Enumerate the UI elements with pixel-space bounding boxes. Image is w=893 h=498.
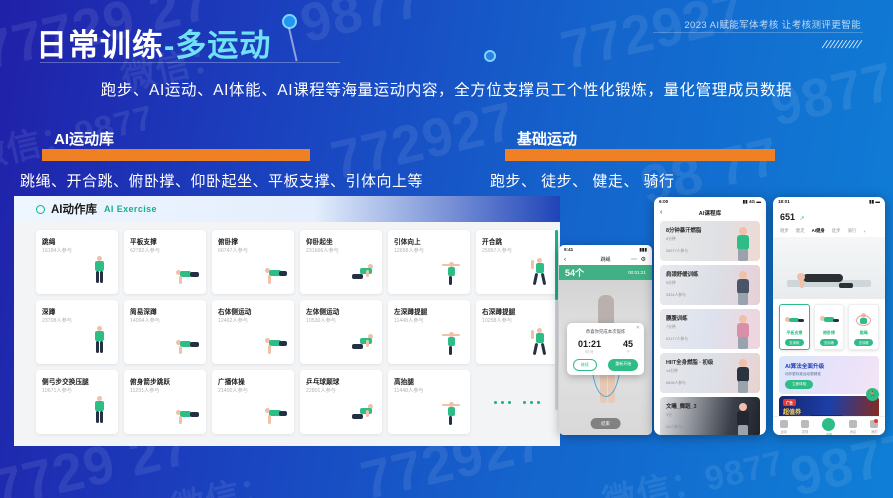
exercise-participant-count: 12462人参与 <box>218 317 248 324</box>
move-card[interactable]: 俯卧撑去训练 <box>814 304 845 350</box>
course-duration: 3分 <box>666 413 697 418</box>
exercise-figure-icon <box>262 256 288 290</box>
stat-label: 个 <box>623 350 633 355</box>
activity-tabs: 跑步健走AI健身徒步骑行+ <box>773 228 885 237</box>
exercise-card-grid: 跳绳16184人参与平板支撑62782人参与俯卧撑60747人参与仰卧起坐231… <box>14 222 560 446</box>
exercise-figure-icon <box>350 396 376 430</box>
section-label: AI运动库 <box>54 128 114 149</box>
status-time: 6:00 <box>659 199 668 204</box>
hatch-decoration-icon: ////////// <box>820 37 863 52</box>
phone-mockup-courses: 6:00 ▮▮ 4G ▬ ‹ AI课程库 8分钟暴汗燃脂8分钟26977人参与肩… <box>654 197 766 435</box>
corner-divider <box>653 32 863 33</box>
activity-tab-健走[interactable]: 健走 <box>796 228 805 234</box>
exercise-card[interactable]: 仰卧起坐231666人参与 <box>300 230 382 294</box>
page-title-accent: 多运动 <box>175 28 271 63</box>
move-card-row: 平板支撑去训练俯卧撑去训练跳绳去训练 <box>773 299 885 354</box>
status-signal-icon: ▮▮ 4G ▬ <box>743 199 761 205</box>
exercise-name: 俯卧撑 <box>218 236 238 246</box>
modal-buttons: 继续 重新开始 <box>567 359 644 371</box>
exercise-name: 平板支撑 <box>130 236 157 246</box>
exercise-card[interactable]: 俯身箭步跳跃11291人参与 <box>124 370 206 434</box>
course-thumbnail-figure <box>732 315 754 349</box>
exercise-card[interactable]: 侧弓步交换压腿10671人参与 <box>36 370 118 434</box>
stat-value: 45 <box>623 339 633 349</box>
exercise-figure-icon <box>174 256 200 290</box>
exercise-name: 左体侧运动 <box>306 306 339 316</box>
watermark: 微信：9877 <box>597 435 788 498</box>
exercise-card[interactable]: 高抬腿11448人参与 <box>388 370 470 434</box>
nav-title: AI课程库 <box>699 209 721 217</box>
exercise-name: 深蹲 <box>42 306 55 316</box>
more-dots-icon[interactable]: ⋯ ⚙ <box>631 256 647 263</box>
activity-tab-跑步[interactable]: 跑步 <box>780 228 789 234</box>
exercise-participant-count: 16184人参与 <box>42 247 72 254</box>
section-underline-bar <box>505 149 775 161</box>
exercise-figure-icon <box>350 326 376 360</box>
page-title-main: 日常训练 <box>36 28 164 63</box>
course-card[interactable]: 8分钟暴汗燃脂8分钟26977人参与 <box>660 221 760 261</box>
tabbar-label: 训练 <box>822 432 835 436</box>
exercise-figure-icon <box>526 256 552 290</box>
course-participants: 53177人参与 <box>666 337 688 342</box>
move-name: 跳绳 <box>849 330 878 336</box>
exercise-participant-count: 21400人参与 <box>218 387 248 394</box>
banner-title: AI算法全面升级 <box>779 356 879 370</box>
exercise-figure-icon <box>174 396 200 430</box>
section-headers: AI运动库 跳绳、开合跳、俯卧撑、仰卧起坐、平板支撑、引体向上等 基础运动 跑步… <box>0 128 893 196</box>
tabbar-label: 消息 <box>849 429 857 434</box>
panel-header: AI动作库 AI Exercise <box>14 196 560 222</box>
exercise-figure-icon <box>174 326 200 360</box>
course-name: 8分钟暴汗燃脂 <box>666 226 701 234</box>
tabbar-label: 发现 <box>801 429 809 434</box>
course-thumbnail-figure <box>732 271 754 305</box>
modal-title: 恭喜你完成本次锻炼 <box>567 323 644 335</box>
exercise-card[interactable]: 右体侧运动12462人参与 <box>212 300 294 364</box>
exercise-card[interactable]: 俯卧撑60747人参与 <box>212 230 294 294</box>
move-card[interactable]: 平板支撑去训练 <box>779 304 810 350</box>
section-label: 基础运动 <box>517 128 577 149</box>
course-participants: 3324人参与 <box>666 293 698 298</box>
promo-banner[interactable]: AI算法全面升级 动作更标准运动更精准 立即体验 <box>779 356 879 394</box>
exercise-card[interactable]: 广播体操21400人参与 <box>212 370 294 434</box>
exercise-card[interactable]: 简易深蹲14994人参与 <box>124 300 206 364</box>
course-duration: 14分钟 <box>666 369 713 374</box>
page-subtitle: 跑步、AI运动、AI体能、AI课程等海量运动内容，全方位支撑员工个性化锻炼，量化… <box>0 78 893 100</box>
exercise-name: 俯身箭步跳跃 <box>130 376 170 386</box>
pin-marker-icon <box>282 14 322 62</box>
exercise-figure-icon <box>438 326 464 360</box>
nav-title: 跳绳 <box>600 256 610 263</box>
course-name: 腰腹训练 <box>666 314 688 322</box>
exercise-figure-icon <box>262 396 288 430</box>
phone-mockup-workout: 9:41 ▮▮▮ ‹ 跳绳 ⋯ ⚙ 54个 00:01:21 ✕ 恭喜你完成本次… <box>559 245 652 435</box>
course-participants: 6608人参与 <box>666 381 713 386</box>
course-thumbnail-figure <box>732 359 754 393</box>
ai-exercise-panel: AI动作库 AI Exercise 跳绳16184人参与平板支撑62782人参与… <box>14 196 560 446</box>
tabbar-item-运动[interactable]: 运动 <box>780 420 788 434</box>
status-signal-icon: ▮▮ ▬ <box>869 199 880 205</box>
tabbar-label: 运动 <box>780 429 788 434</box>
exercise-name: 右体侧运动 <box>218 306 251 316</box>
watermark: 微信： <box>166 459 279 498</box>
tabbar-item-我的[interactable]: 我的 <box>870 420 878 434</box>
exercise-figure-icon <box>438 256 464 290</box>
exercise-card[interactable]: 乒乓球颠球22801人参与 <box>300 370 382 434</box>
exercise-card[interactable]: 左体侧运动10530人参与 <box>300 300 382 364</box>
hero-image <box>773 237 885 299</box>
exercise-participant-count: 22801人参与 <box>306 387 336 394</box>
exercise-name: 左深蹲提腿 <box>394 306 427 316</box>
section-underline-bar <box>42 149 310 161</box>
modal-stats: 01:21 时:分 45 个 <box>567 339 644 355</box>
exercise-name: 开合跳 <box>482 236 502 246</box>
exercise-figure-icon <box>86 396 112 430</box>
ring-icon <box>36 205 45 214</box>
exercise-figure-icon <box>262 326 288 360</box>
course-card[interactable]: 肩颈舒缓训练5分钟3324人参与 <box>660 265 760 305</box>
exercise-card[interactable]: 右深蹲提腿10258人参与 <box>476 300 558 364</box>
exercise-name: 高抬腿 <box>394 376 414 386</box>
exercise-participant-count: 12658人参与 <box>394 247 424 254</box>
phone-mockup-home: 18:01 ▮▮ ▬ 651 ↗ 跑步健走AI健身徒步骑行+ 平板支撑去训练俯卧… <box>773 197 885 435</box>
step-counter: 651 ↗ <box>773 206 885 228</box>
stat-label: 时:分 <box>578 350 601 355</box>
camera-view: 54个 00:01:21 ✕ 恭喜你完成本次锻炼 01:21 时:分 45 个 <box>559 265 652 435</box>
course-thumbnail-figure <box>732 403 754 435</box>
course-duration: 5分钟 <box>666 281 698 286</box>
run-icon[interactable]: 🏃 <box>866 388 879 401</box>
corner-tagline: 2023 AI赋能军体考核 让考核测评更智能 <box>684 17 861 31</box>
exercise-participant-count: 11448人参与 <box>394 387 424 394</box>
status-bar: 9:41 ▮▮▮ <box>559 245 652 254</box>
continue-button[interactable]: 继续 <box>573 359 597 371</box>
move-train-button[interactable]: 去训练 <box>820 339 839 346</box>
completion-modal: ✕ 恭喜你完成本次锻炼 01:21 时:分 45 个 继续 重新开始 <box>567 323 644 375</box>
status-signal-icon: ▮▮▮ <box>639 247 647 253</box>
banner-subtitle: 动作更标准运动更精准 <box>779 370 879 377</box>
elapsed-timer: 00:01:21 <box>628 270 646 275</box>
ad-tag: 广告 <box>783 399 796 406</box>
section-item-list: 跳绳、开合跳、俯卧撑、仰卧起坐、平板支撑、引体向上等 <box>20 170 423 191</box>
activity-tab-AI健身[interactable]: AI健身 <box>812 228 825 234</box>
course-card[interactable]: HIIT全身燃脂 · 初级14分钟6608人参与 <box>660 353 760 393</box>
back-chevron-icon[interactable]: ‹ <box>660 209 662 216</box>
panel-title: AI动作库 <box>51 201 97 217</box>
move-figure-icon <box>819 313 839 327</box>
exercise-participant-count: 10258人参与 <box>482 317 512 324</box>
exercise-card[interactable]: 引体向上12658人参与 <box>388 230 470 294</box>
move-train-button[interactable]: 去训练 <box>854 339 873 346</box>
title-divider <box>40 62 340 63</box>
course-card[interactable]: 文曦_舞蹈_33分22人参与 <box>660 397 760 435</box>
close-icon[interactable]: ✕ <box>636 325 640 331</box>
course-card[interactable]: 腰腹训练7分钟53177人参与 <box>660 309 760 349</box>
step-count: 651 <box>780 212 795 222</box>
move-train-button[interactable]: 去训练 <box>785 339 804 346</box>
rep-count-bar: 54个 00:01:21 <box>559 265 652 280</box>
exercise-card[interactable]: 左深蹲提腿11448人参与 <box>388 300 470 364</box>
activity-tab-徒步[interactable]: 徒步 <box>832 228 841 234</box>
bell-icon <box>849 420 857 428</box>
exercise-name: 引体向上 <box>394 236 421 246</box>
exercise-participant-count: 11291人参与 <box>130 387 160 394</box>
exercise-participant-count: 25957人参与 <box>482 247 512 254</box>
section-item-list: 跑步、 徒步、 健走、 骑行 <box>490 170 775 191</box>
tabbar-label: 我的 <box>870 429 878 434</box>
ad-text: 超值券 <box>783 407 801 416</box>
back-chevron-icon[interactable]: ‹ <box>564 257 566 263</box>
exercise-figure-icon <box>86 256 112 290</box>
activity-tab-+[interactable]: + <box>863 229 866 234</box>
run-icon <box>780 420 788 428</box>
exercise-card[interactable]: 跳绳16184人参与 <box>36 230 118 294</box>
exercise-participant-count: 10530人参与 <box>306 317 336 324</box>
move-figure-icon <box>784 313 804 327</box>
exercise-figure-icon <box>350 256 376 290</box>
section-ai-library: AI运动库 跳绳、开合跳、俯卧撑、仰卧起坐、平板支撑、引体向上等 <box>42 128 423 191</box>
activity-tab-骑行[interactable]: 骑行 <box>848 228 857 234</box>
tabbar-item-发现[interactable]: 发现 <box>801 420 809 434</box>
course-name: HIIT全身燃脂 · 初级 <box>666 358 713 366</box>
exercise-name: 右深蹲提腿 <box>482 306 515 316</box>
section-basic-sports: 基础运动 跑步、 徒步、 健走、 骑行 <box>505 128 775 191</box>
exercise-participant-count: 231666人参与 <box>306 247 339 254</box>
move-figure-icon <box>854 313 874 327</box>
exercise-figure-icon <box>86 326 112 360</box>
end-workout-button[interactable]: 结束 <box>590 418 621 429</box>
page-title-separator: - <box>164 28 175 63</box>
rep-count: 54个 <box>565 266 584 279</box>
stat-value: 01:21 <box>578 339 601 349</box>
exercise-card[interactable]: 平板支撑62782人参与 <box>124 230 206 294</box>
pin-dot-icon <box>484 50 496 62</box>
nav-bar: ‹ AI课程库 <box>654 206 766 219</box>
nav-bar: ‹ 跳绳 ⋯ ⚙ <box>559 254 652 265</box>
exercise-name: 侧弓步交换压腿 <box>42 376 89 386</box>
panel-subtitle: AI Exercise <box>104 204 157 214</box>
exercise-figure-icon <box>526 326 552 360</box>
course-list: 8分钟暴汗燃脂8分钟26977人参与肩颈舒缓训练5分钟3324人参与腰腹训练7分… <box>654 219 766 435</box>
move-name: 平板支撑 <box>780 330 809 336</box>
exercise-card[interactable]: 深蹲23708人参与 <box>36 300 118 364</box>
exercise-name: 简易深蹲 <box>130 306 157 316</box>
exercise-participant-count: 62782人参与 <box>130 247 160 254</box>
compass-icon <box>801 420 809 428</box>
course-duration: 8分钟 <box>666 237 701 242</box>
course-name: 文曦_舞蹈_3 <box>666 402 697 410</box>
bottom-tab-bar: 运动发现训练消息我的 <box>773 416 885 435</box>
exercise-name: 广播体操 <box>218 376 245 386</box>
more-indicator[interactable] <box>476 370 558 434</box>
exercise-name: 仰卧起坐 <box>306 236 333 246</box>
footprint-icon: ↗ <box>799 216 804 222</box>
exercise-participant-count: 14994人参与 <box>130 317 160 324</box>
course-participants: 26977人参与 <box>666 249 701 254</box>
exercise-name: 跳绳 <box>42 236 55 246</box>
status-bar: 6:00 ▮▮ 4G ▬ <box>654 197 766 206</box>
panel-scrollbar[interactable] <box>555 230 558 410</box>
banner-button[interactable]: 立即体验 <box>785 380 813 389</box>
exercise-participant-count: 10671人参与 <box>42 387 72 394</box>
status-time: 9:41 <box>564 247 573 252</box>
slide-header: 日常训练-多运动 2023 AI赋能军体考核 让考核测评更智能 ////////… <box>0 0 893 128</box>
move-name: 俯卧撑 <box>815 330 844 336</box>
course-name: 肩颈舒缓训练 <box>666 270 698 278</box>
plus-circle-icon <box>822 418 835 431</box>
exercise-participant-count: 60747人参与 <box>218 247 248 254</box>
exercise-participant-count: 23708人参与 <box>42 317 72 324</box>
status-time: 18:01 <box>778 199 790 204</box>
exercise-participant-count: 11448人参与 <box>394 317 424 324</box>
status-bar: 18:01 ▮▮ ▬ <box>773 197 885 206</box>
page-title: 日常训练-多运动 <box>36 20 271 65</box>
tabbar-item-消息[interactable]: 消息 <box>849 420 857 434</box>
restart-button[interactable]: 重新开始 <box>608 359 638 371</box>
course-participants: 22人参与 <box>666 425 697 430</box>
exercise-figure-icon <box>438 396 464 430</box>
course-duration: 7分钟 <box>666 325 688 330</box>
exercise-name: 乒乓球颠球 <box>306 376 339 386</box>
move-card[interactable]: 跳绳去训练 <box>848 304 879 350</box>
exercise-card[interactable]: 开合跳25957人参与 <box>476 230 558 294</box>
tabbar-item-训练[interactable]: 训练 <box>822 418 835 436</box>
course-thumbnail-figure <box>732 227 754 261</box>
